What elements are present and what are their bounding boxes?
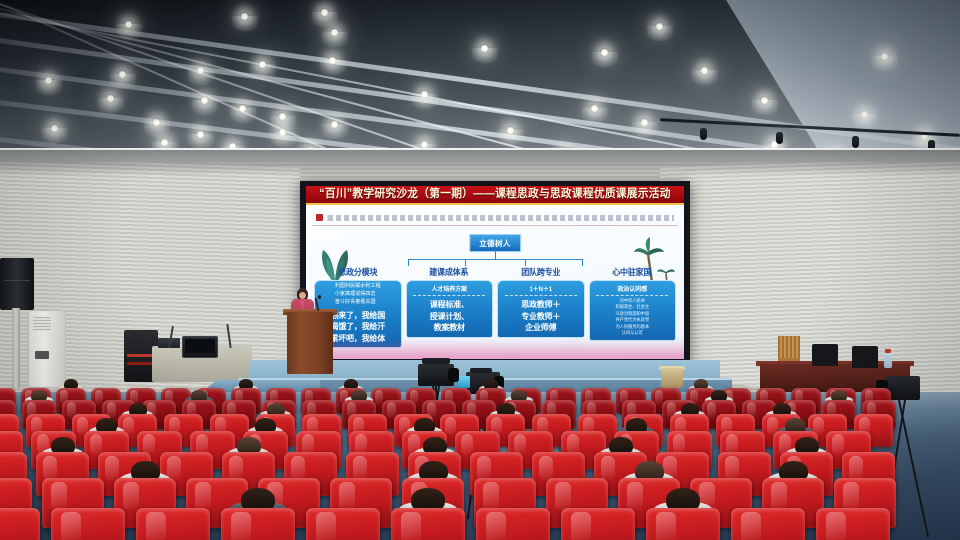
main-line: 课程标准、 xyxy=(430,299,469,311)
slide-column-main-text: 课程标准、授课计划、教案教材 xyxy=(430,296,469,334)
detail-line: 利国利民联水利工程 xyxy=(335,283,381,291)
detail-line: 共产党代为执政党 xyxy=(615,317,649,323)
main-line: 授课计划、 xyxy=(430,311,469,323)
slide-column-body: 1＋N＋1思政教师＋专业教师＋企业师傅 xyxy=(497,280,585,338)
slide-column-subcaption: 1＋N＋1 xyxy=(505,283,577,296)
slide-column-body: 政治认同感对中华人民共和国来生、社会主义政治制度和中国共产党代为执政党为人民服务… xyxy=(589,280,677,341)
detail-line: 奋斗好青春看关国 xyxy=(335,299,381,307)
recessed-downlight xyxy=(330,120,339,129)
waste-bin xyxy=(661,368,683,388)
recessed-downlight xyxy=(655,22,664,31)
main-line: 热来了，我给国 xyxy=(330,310,385,322)
speaker-stand xyxy=(12,308,20,388)
recessed-downlight xyxy=(640,118,649,127)
slide-column-subcaption: 政治认同感 xyxy=(596,283,668,296)
auditorium-seat[interactable] xyxy=(51,508,125,540)
track-light-head xyxy=(700,128,707,140)
main-line: 专业教师＋ xyxy=(521,311,560,323)
camera-handle xyxy=(422,358,450,364)
main-line: 思政教师＋ xyxy=(521,299,560,311)
auditorium-seat[interactable] xyxy=(561,508,635,540)
recessed-downlight xyxy=(106,94,115,103)
camera-body xyxy=(886,376,920,400)
bottle-cap-icon xyxy=(885,349,891,353)
camera-handle xyxy=(470,368,492,373)
speaker-grille-line xyxy=(4,280,30,281)
connector-drop xyxy=(465,259,466,266)
slide-column-header: 心中驻家国 xyxy=(613,266,652,278)
camera-lcd-screen xyxy=(458,376,470,388)
recessed-downlight xyxy=(196,66,205,75)
office-chair xyxy=(852,346,878,368)
slide-column-header: 建课成体系 xyxy=(430,266,469,278)
recessed-downlight xyxy=(328,56,337,65)
auditorium-seat[interactable] xyxy=(0,508,40,540)
slide-column-header: 思政分模块 xyxy=(338,266,377,278)
wall-speaker xyxy=(0,258,34,310)
slide-column-3: 团队跨专业1＋N＋1思政教师＋专业教师＋企业师傅 xyxy=(497,266,585,348)
slide-column-header: 团队跨专业 xyxy=(521,266,560,278)
auditorium-seat[interactable] xyxy=(221,508,295,540)
slide-column-detail-text: 对中华人民共和国来生、社会主义政治制度和中国共产党代为执政党为人民服务的基本认同… xyxy=(615,296,649,337)
recessed-downlight xyxy=(152,118,161,127)
auditorium-seat[interactable] xyxy=(476,508,550,540)
auditorium-seat[interactable] xyxy=(816,508,890,540)
auditorium-seat[interactable] xyxy=(136,508,210,540)
recessed-downlight xyxy=(420,90,429,99)
main-line: 企业师傅 xyxy=(521,322,560,334)
connector-horizontal xyxy=(408,259,582,260)
auditorium-seat[interactable] xyxy=(646,508,720,540)
slide-subheader xyxy=(316,212,674,223)
detail-line: 认同与认可 xyxy=(615,330,649,336)
main-line: 渴饿了，我给汗 xyxy=(330,321,385,333)
auditorium-seat[interactable] xyxy=(306,508,380,540)
connector-drop xyxy=(582,259,583,266)
control-monitor xyxy=(182,336,218,358)
projection-screen: “百川”教学研究沙龙（第一期）——课程思政与思政课程优质课展示活动 xyxy=(300,181,690,365)
recessed-downlight xyxy=(240,12,249,21)
recessed-downlight xyxy=(118,70,127,79)
slide-column-2: 建课成体系人才培养方案课程标准、授课计划、教案教材 xyxy=(406,266,494,348)
slide-column-subcaption: 人才培养方案 xyxy=(413,283,485,296)
track-light-head xyxy=(852,136,859,148)
water-bottle xyxy=(884,352,892,368)
main-line: 教案教材 xyxy=(430,322,469,334)
monitor-screen xyxy=(185,339,215,353)
track-light-head xyxy=(776,132,783,144)
slide-divider xyxy=(312,225,678,226)
recessed-downlight xyxy=(160,138,169,147)
rack-indicator xyxy=(127,362,153,365)
institution-logo-icon xyxy=(316,214,323,221)
slide-column-body: 人才培养方案课程标准、授课计划、教案教材 xyxy=(406,280,494,338)
recessed-downlight xyxy=(124,20,133,29)
recessed-downlight xyxy=(278,112,287,121)
slide-surface: “百川”教学研究沙龙（第一期）——课程思政与思政课程优质课展示活动 xyxy=(306,186,684,359)
ac-vent-icon xyxy=(33,317,51,331)
recessed-downlight xyxy=(480,44,489,53)
connector-drop xyxy=(525,259,526,266)
camera-lens-icon xyxy=(448,368,459,382)
event-banner: “百川”教学研究沙龙（第一期）——课程思政与思政课程优质课展示活动 xyxy=(306,186,684,205)
recessed-downlight xyxy=(278,128,287,137)
air-conditioner xyxy=(28,310,66,388)
recessed-downlight xyxy=(258,60,267,69)
recessed-downlight xyxy=(506,126,515,135)
recessed-downlight xyxy=(760,96,769,105)
slide-subtitle-text xyxy=(327,215,674,221)
screen-glow xyxy=(306,339,684,359)
connector-drop xyxy=(408,259,409,266)
microphone-head-icon xyxy=(318,295,321,299)
connector-vertical xyxy=(495,250,496,259)
presenter-face xyxy=(299,292,306,299)
recessed-downlight xyxy=(320,8,329,17)
office-chair xyxy=(812,344,838,366)
recessed-downlight xyxy=(600,48,609,57)
auditorium-seat[interactable] xyxy=(391,508,465,540)
recessed-downlight xyxy=(860,110,869,119)
recessed-downlight xyxy=(700,66,709,75)
slide-column-4: 心中驻家国政治认同感对中华人民共和国来生、社会主义政治制度和中国共产党代为执政党… xyxy=(589,266,677,348)
recessed-downlight xyxy=(196,130,205,139)
recessed-downlight xyxy=(238,104,247,113)
rack-indicator xyxy=(127,354,153,357)
recessed-downlight xyxy=(590,104,599,113)
detail-line: 小家高理说得四志 xyxy=(335,291,381,299)
recessed-downlight xyxy=(50,124,59,133)
detail-line: 和国来生、社会主 xyxy=(615,304,649,310)
auditorium-seat[interactable] xyxy=(731,508,805,540)
wooden-chair-back xyxy=(778,336,800,358)
slide-columns: 思政分模块利国利民联水利工程小家高理说得四志奋斗好青春看关国热来了，我给国渴饿了… xyxy=(314,266,676,348)
wall-top-shadow xyxy=(0,150,960,176)
slide-column-detail-text: 利国利民联水利工程小家高理说得四志奋斗好青春看关国 xyxy=(335,283,381,307)
recessed-downlight xyxy=(44,76,53,85)
recessed-downlight xyxy=(880,52,889,61)
event-banner-title: “百川”教学研究沙龙（第一期）——课程思政与思政课程优质课展示活动 xyxy=(319,186,670,201)
ac-control-panel[interactable] xyxy=(35,351,49,359)
auditorium-scene: “百川”教学研究沙龙（第一期）——课程思政与思政课程优质课展示活动 xyxy=(0,0,960,540)
recessed-downlight xyxy=(200,96,209,105)
slide-column-main-text: 思政教师＋专业教师＋企业师傅 xyxy=(521,296,560,334)
wooden-podium xyxy=(287,312,333,374)
recessed-downlight xyxy=(330,28,339,37)
